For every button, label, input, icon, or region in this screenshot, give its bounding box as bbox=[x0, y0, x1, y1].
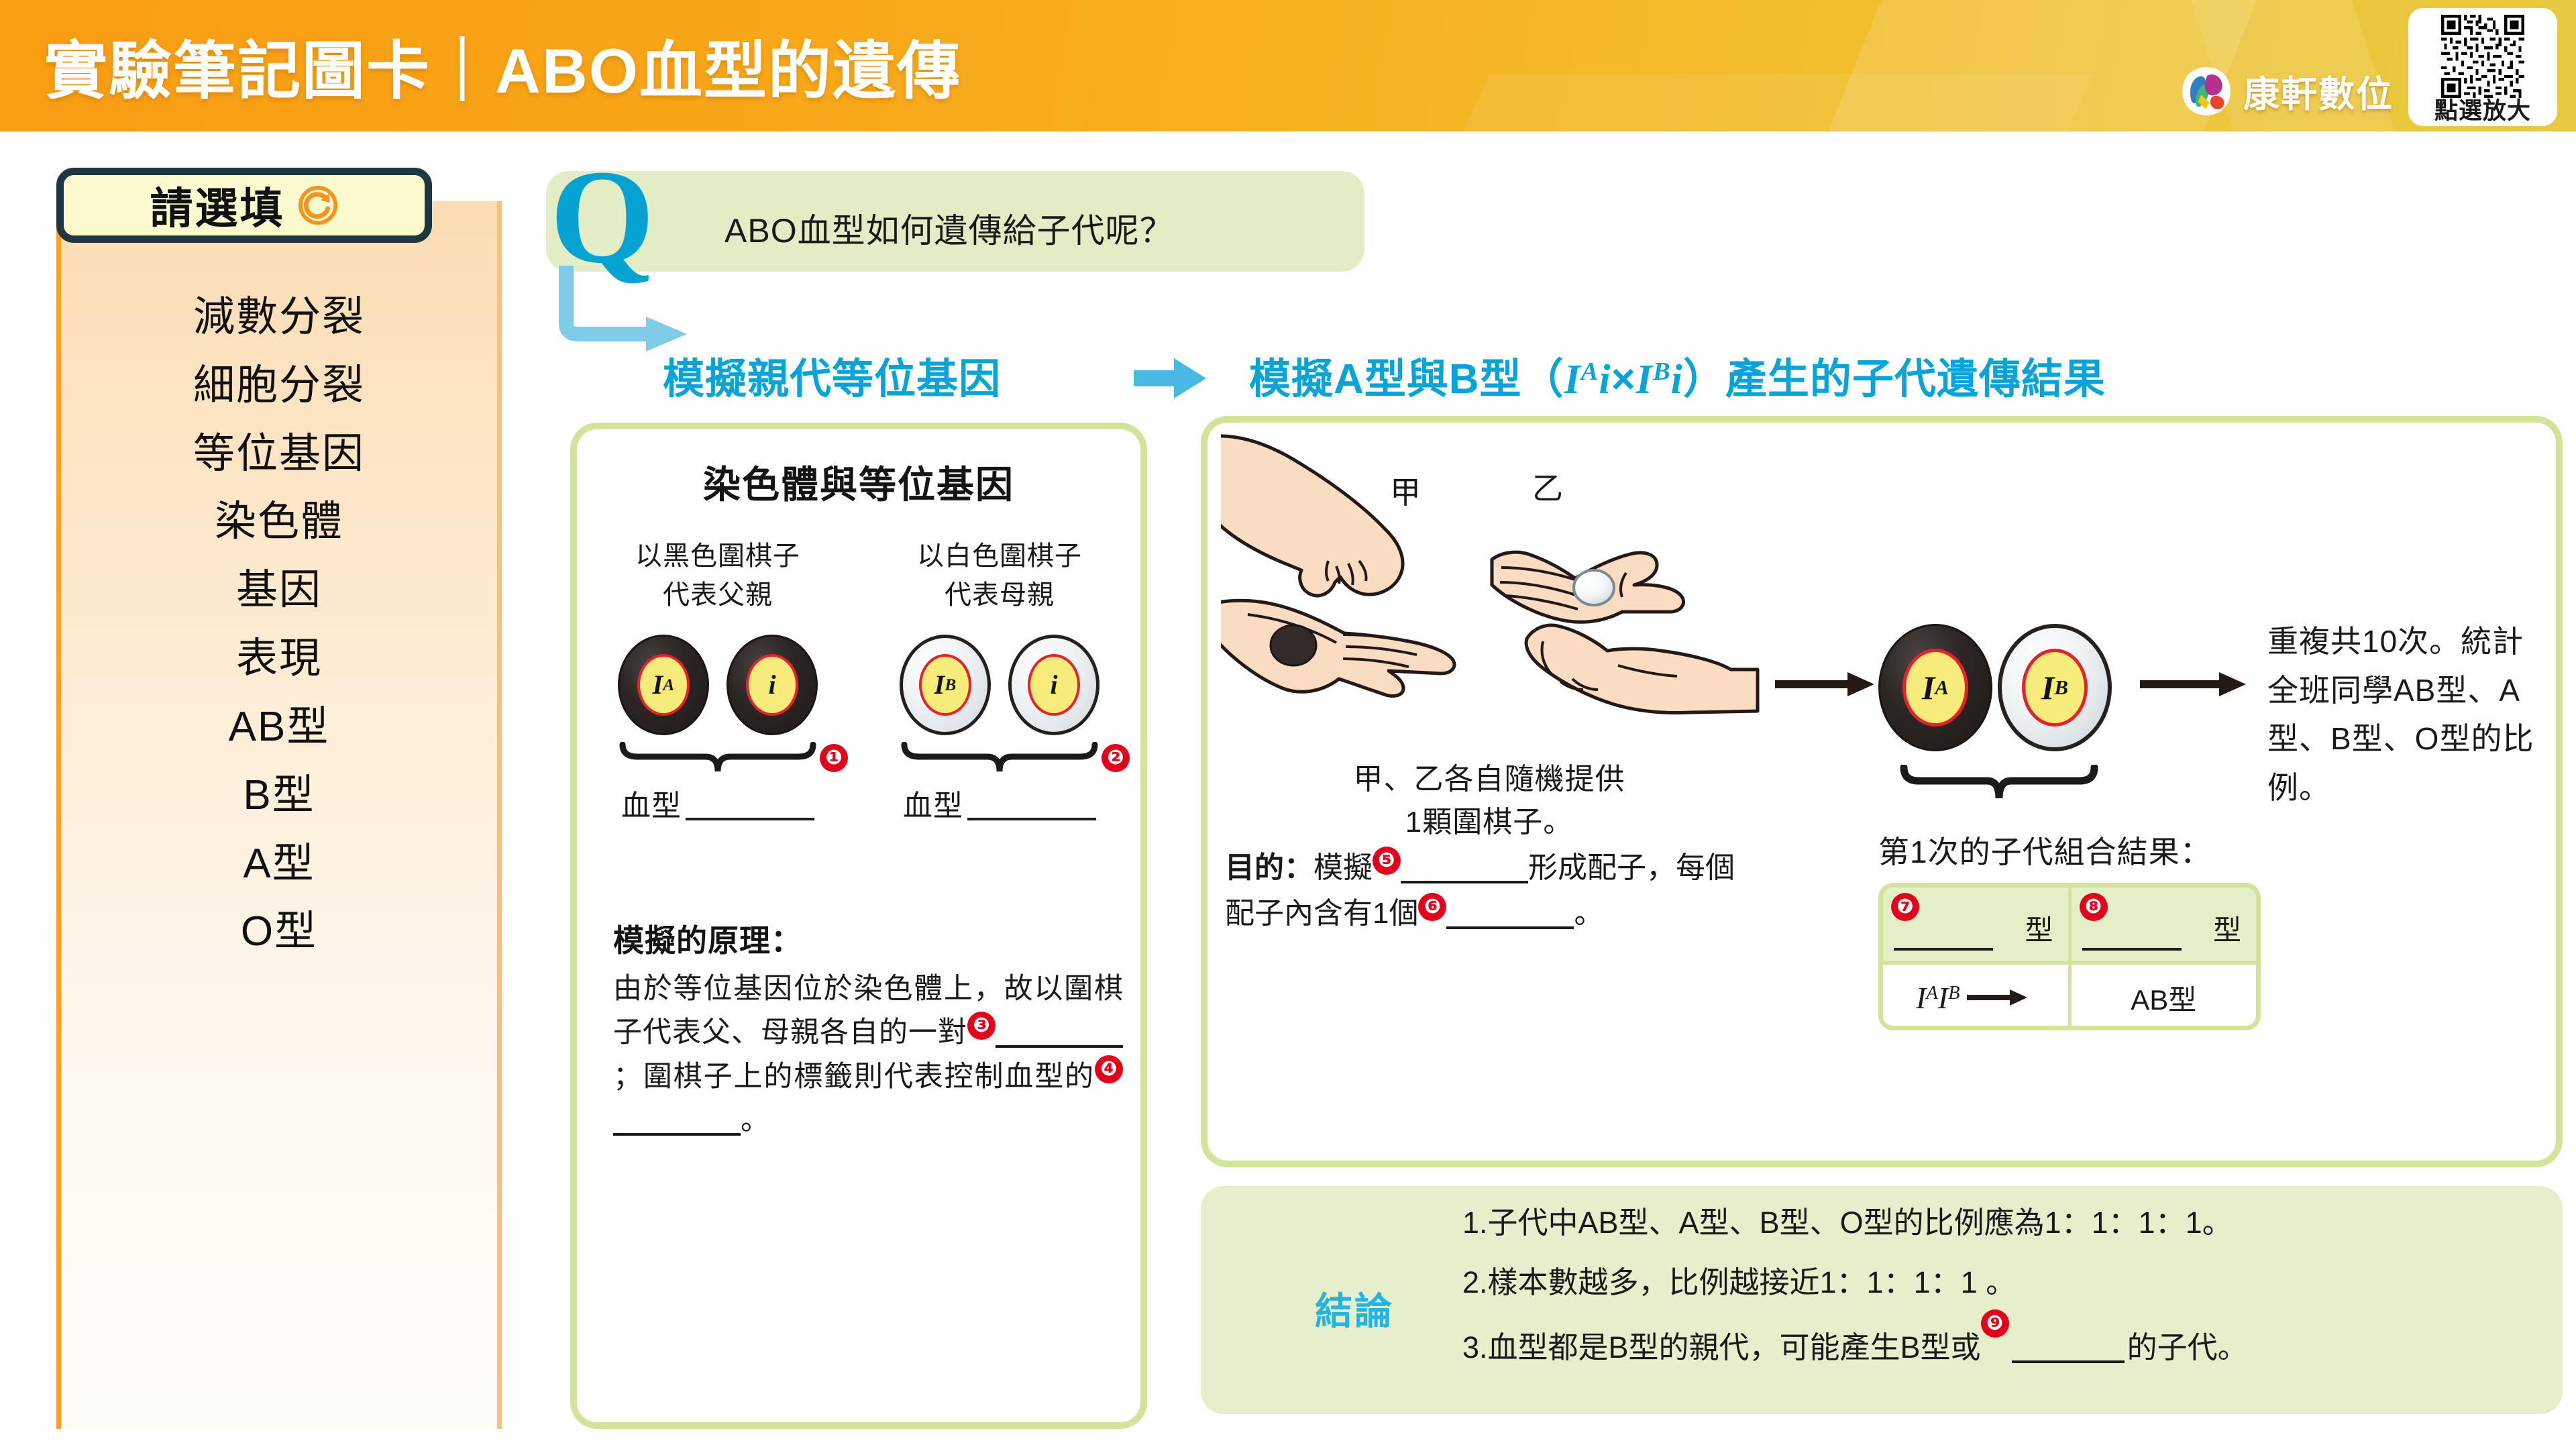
table-row: ❼ 型 ❽ 型 bbox=[1883, 888, 2256, 961]
parent-allele-columns: 以黑色圍棋子 代表父親 IA i 血型 ❶ bbox=[577, 537, 1140, 824]
genotype-sup-2: B bbox=[1948, 982, 1960, 1003]
conclusion-blank-9[interactable] bbox=[2012, 1333, 2125, 1363]
example-genotype-cell: IAIB bbox=[1883, 965, 2068, 1030]
conclusion-list: 1.子代中AB型、A型、B型、O型的比例應為1：1：1：1。 2.樣本數越多，比… bbox=[1462, 1207, 2536, 1393]
principle-blank-3[interactable] bbox=[996, 1018, 1123, 1048]
mother-column: 以白色圍棋子 代表母親 IB i 血型 ❷ bbox=[872, 537, 1127, 824]
allele-base: I bbox=[934, 672, 945, 698]
offspring-simulation-panel: 甲 乙 甲、乙各自隨機提供 1顆圍棋子。 目的：模擬❺形成配子，每個配子內含有1… bbox=[1201, 416, 2563, 1167]
conclusion-item-3: 3.血型都是B型的親代，可能產生B型或❾的子代。 bbox=[1462, 1327, 2536, 1363]
brace-icon bbox=[1898, 765, 2100, 802]
mother-stone-row: IB i bbox=[872, 635, 1127, 735]
conclusion-item-3-part1: 3.血型都是B型的親代，可能產生B型或 bbox=[1462, 1330, 1981, 1364]
allele-base: I bbox=[1922, 668, 1935, 707]
hand-label-a: 甲 bbox=[1390, 468, 1421, 513]
father-caption-line1: 以黑色圍棋子 bbox=[590, 537, 845, 576]
go-stone-white-icon: IB bbox=[900, 635, 991, 735]
word-bank-item[interactable]: AB型 bbox=[222, 698, 337, 756]
father-stone-row: IA i bbox=[590, 635, 845, 735]
purpose-part1: 模擬 bbox=[1313, 851, 1373, 884]
heading-right-geno2-tail: i bbox=[1671, 357, 1683, 402]
word-bank-item[interactable]: A型 bbox=[236, 835, 321, 893]
purpose-blank-5[interactable] bbox=[1401, 853, 1528, 883]
reset-icon[interactable] bbox=[297, 184, 339, 226]
result-cell-genotype-blank[interactable]: ❼ 型 bbox=[1883, 888, 2068, 961]
blank-number-badge: ❹ bbox=[1095, 1055, 1123, 1083]
blank-number-badge: ❼ bbox=[1891, 893, 1919, 921]
brand-name: 康軒數位 bbox=[2243, 64, 2394, 117]
word-bank-item[interactable]: 減數分裂 bbox=[186, 288, 372, 346]
allele-label: IB bbox=[2022, 649, 2088, 727]
purpose-blank-6[interactable] bbox=[1446, 898, 1574, 929]
kanghsuan-logo-icon bbox=[2180, 65, 2233, 117]
blank-number-badge: ❸ bbox=[967, 1012, 996, 1040]
header-decor-shape-c bbox=[1436, 74, 2093, 131]
father-caption: 以黑色圍棋子 代表父親 bbox=[590, 537, 845, 614]
father-bloodtype-blank[interactable] bbox=[686, 818, 814, 820]
blank-number-badge: ❽ bbox=[2080, 893, 2108, 921]
hands-diagram-icon bbox=[1221, 429, 1771, 745]
heading-right-suffix: ）產生的子代遺傳結果 bbox=[1683, 356, 2106, 402]
page-header: 實驗筆記圖卡｜ABO血型的遺傳 康軒數位 bbox=[0, 0, 2576, 131]
heading-right-geno1-sup: A bbox=[1581, 358, 1599, 386]
father-bloodtype-blank-row: 血型 ❶ bbox=[590, 782, 845, 824]
heading-right-prefix: 模擬A型與B型（ bbox=[1249, 356, 1564, 402]
mother-caption-line2: 代表母親 bbox=[872, 576, 1127, 614]
result-cell-unit: 型 bbox=[2213, 908, 2241, 949]
blank-number-badge: ❻ bbox=[1418, 893, 1446, 921]
result-cell-phenotype-blank[interactable]: ❽ 型 bbox=[2068, 888, 2257, 961]
genotype-base-1: I bbox=[1916, 981, 1926, 1015]
go-stone-black-icon: i bbox=[727, 635, 818, 735]
purpose-part3: 。 bbox=[1574, 897, 1603, 930]
word-bank-panel: 減數分裂 細胞分裂 等位基因 染色體 基因 表現 AB型 B型 A型 O型 bbox=[56, 201, 502, 1429]
offspring-result-table: ❼ 型 ❽ 型 IAIB AB型 bbox=[1878, 883, 2261, 1030]
word-bank-item[interactable]: 基因 bbox=[229, 561, 329, 619]
conclusion-label: 結論 bbox=[1315, 1281, 1394, 1336]
question-text: ABO血型如何遺傳給子代呢？ bbox=[724, 204, 1174, 252]
purpose-label: 目的： bbox=[1225, 851, 1313, 884]
arrow-right-icon bbox=[1775, 671, 1876, 698]
mother-bloodtype-blank[interactable] bbox=[967, 818, 1096, 820]
heading-simulate-parent-alleles: 模擬親代等位基因 bbox=[663, 345, 1001, 405]
word-bank-list: 減數分裂 細胞分裂 等位基因 染色體 基因 表現 AB型 B型 A型 O型 bbox=[61, 288, 497, 961]
heading-right-geno1-base: I bbox=[1564, 357, 1581, 402]
right-arrow-icon bbox=[1134, 356, 1207, 401]
left-panel-title: 染色體與等位基因 bbox=[577, 455, 1140, 509]
conclusion-item-2: 2.樣本數越多，比例越接近1：1：1：1 。 bbox=[1462, 1267, 2536, 1297]
mother-caption: 以白色圍棋子 代表母親 bbox=[872, 537, 1127, 614]
father-caption-line2: 代表父親 bbox=[590, 576, 845, 614]
heading-right-geno2-base: I bbox=[1636, 357, 1653, 402]
principle-body: 由於等位基因位於染色體上，故以圍棋子代表父、母親各自的一對❸；圍棋子上的標籤則代… bbox=[613, 967, 1123, 1142]
heading-simulate-offspring: 模擬A型與B型（IAi×IBi）產生的子代遺傳結果 bbox=[1249, 345, 2106, 405]
arrow-right-icon bbox=[2140, 671, 2247, 698]
principle-part3: 。 bbox=[741, 1104, 769, 1136]
allele-sup: A bbox=[1935, 676, 1949, 700]
brand-logo: 康軒數位 bbox=[2180, 64, 2394, 117]
example-phenotype-cell: AB型 bbox=[2068, 965, 2257, 1030]
heading-right-times: × bbox=[1611, 356, 1636, 402]
principle-blank-4[interactable] bbox=[613, 1106, 741, 1136]
go-stone-black-icon: IA bbox=[618, 635, 709, 735]
zygote-stone-row: IA IB bbox=[1878, 624, 2112, 751]
qr-code-box[interactable]: 點選放大 bbox=[2408, 8, 2557, 126]
go-stone-white-icon: i bbox=[1008, 635, 1099, 735]
blank-number-badge: ❶ bbox=[820, 744, 848, 772]
allele-label: i bbox=[1028, 654, 1080, 716]
heading-right-geno2-sup: B bbox=[1653, 358, 1671, 386]
infographic-root: 實驗筆記圖卡｜ABO血型的遺傳 康軒數位 bbox=[0, 0, 2576, 1449]
qr-caption: 點選放大 bbox=[2434, 99, 2531, 123]
page-title: 實驗筆記圖卡｜ABO血型的遺傳 bbox=[44, 20, 961, 111]
blank-number-badge: ❾ bbox=[1981, 1309, 2009, 1338]
conclusion-panel: 結論 1.子代中AB型、A型、B型、O型的比例應為1：1：1：1。 2.樣本數越… bbox=[1201, 1186, 2563, 1414]
result-blank-7[interactable] bbox=[1894, 948, 1993, 951]
result-cell-unit: 型 bbox=[2025, 908, 2053, 949]
genotype-base-2: I bbox=[1938, 981, 1948, 1015]
arrow-right-icon bbox=[1967, 989, 2029, 1006]
word-bank-header: 請選填 bbox=[56, 168, 432, 243]
result-blank-8[interactable] bbox=[2082, 948, 2182, 951]
word-bank-item[interactable]: 細胞分裂 bbox=[186, 357, 372, 415]
heading-right-geno1-tail: i bbox=[1599, 357, 1611, 402]
allele-label: IA bbox=[637, 654, 690, 716]
allele-label: IB bbox=[919, 654, 971, 716]
blank-number-badge: ❷ bbox=[1102, 744, 1130, 772]
mother-bloodtype-blank-row: 血型 ❷ bbox=[872, 782, 1127, 824]
example-genotype: IAIB bbox=[1916, 980, 1960, 1016]
conclusion-item-3-part2: 的子代。 bbox=[2127, 1330, 2248, 1364]
mother-caption-line1: 以白色圍棋子 bbox=[872, 537, 1127, 576]
allele-base: I bbox=[653, 672, 663, 698]
hands-caption-line2: 1顆圍棋子。 bbox=[1221, 801, 1758, 844]
word-bank-item[interactable]: O型 bbox=[234, 903, 324, 961]
allele-base: I bbox=[2041, 668, 2054, 707]
brace-icon bbox=[617, 742, 818, 775]
word-bank-item[interactable]: 等位基因 bbox=[186, 425, 372, 483]
word-bank-title: 請選填 bbox=[150, 174, 285, 236]
brace-icon bbox=[899, 742, 1100, 775]
allele-sup: A bbox=[663, 676, 674, 694]
genotype-sup-1: A bbox=[1926, 982, 1937, 1003]
allele-sup: B bbox=[945, 676, 956, 694]
principle-block: 模擬的原理： 由於等位基因位於染色體上，故以圍棋子代表父、母親各自的一對❸；圍棋… bbox=[613, 916, 1123, 1142]
question-marker: Q bbox=[550, 150, 655, 284]
allele-label: IA bbox=[1902, 649, 1968, 727]
hands-illustration: 甲 乙 bbox=[1221, 429, 1771, 745]
allele-label: i bbox=[746, 654, 798, 716]
table-row: IAIB AB型 bbox=[1883, 961, 2256, 1030]
repeat-instruction: 重複共10次。統計全班同學AB型、A型、B型、O型的比例。 bbox=[2267, 617, 2549, 812]
word-bank-item[interactable]: B型 bbox=[236, 767, 321, 824]
word-bank-item[interactable]: 染色體 bbox=[208, 493, 350, 551]
hands-caption-line1: 甲、乙各自隨機提供 bbox=[1221, 758, 1758, 801]
result-table-title: 第1次的子代組合結果： bbox=[1878, 828, 2212, 872]
father-bloodtype-label: 血型 bbox=[621, 782, 682, 824]
chromosome-allele-panel: 染色體與等位基因 以黑色圍棋子 代表父親 IA i bbox=[570, 423, 1147, 1429]
father-column: 以黑色圍棋子 代表父親 IA i 血型 ❶ bbox=[590, 537, 845, 824]
word-bank-item[interactable]: 表現 bbox=[229, 630, 329, 688]
conclusion-item-1: 1.子代中AB型、A型、B型、O型的比例應為1：1：1：1。 bbox=[1462, 1207, 2536, 1238]
hands-caption: 甲、乙各自隨機提供 1顆圍棋子。 bbox=[1221, 758, 1758, 844]
allele-sup: B bbox=[2054, 676, 2068, 700]
go-stone-black-icon: IA bbox=[1878, 624, 1992, 751]
purpose-block: 目的：模擬❺形成配子，每個配子內含有1個❻。 bbox=[1225, 845, 1755, 936]
qr-code-icon bbox=[2441, 15, 2524, 98]
hand-label-b: 乙 bbox=[1532, 464, 1563, 508]
blank-number-badge: ❺ bbox=[1373, 847, 1401, 875]
principle-title: 模擬的原理： bbox=[613, 916, 1123, 961]
principle-part2: ；圍棋子上的標籤則代表控制血型的 bbox=[613, 1061, 1095, 1093]
mother-bloodtype-label: 血型 bbox=[903, 782, 963, 824]
go-stone-white-icon: IB bbox=[1998, 624, 2112, 751]
